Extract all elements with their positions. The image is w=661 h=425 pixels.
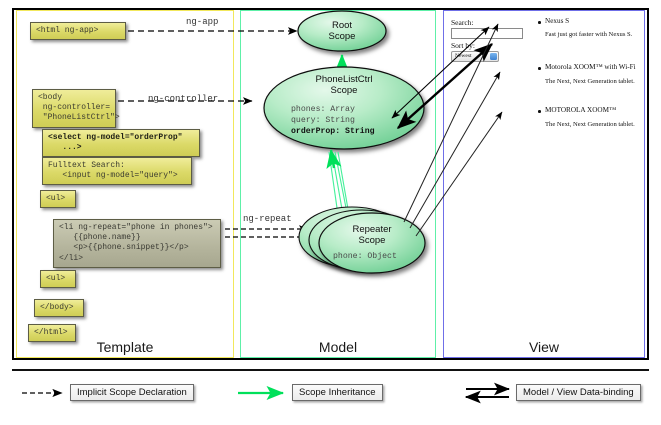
- code-search-input-tag: Fulltext Search: <input ng-model="query"…: [42, 157, 192, 185]
- chevron-updown-icon: [490, 53, 497, 60]
- legend-item-scope-inheritance: Scope Inheritance: [292, 384, 383, 401]
- diagram-root: Template <html ng-app> <body ng-controll…: [0, 0, 661, 425]
- code-ul-open-tag: <ul>: [40, 190, 76, 208]
- panel-model: Model: [240, 10, 436, 358]
- code-li-repeat-tag: <li ng-repeat="phone in phones"> {{phone…: [53, 219, 221, 268]
- list-bullet-icon: [538, 110, 541, 113]
- view-phone-snippet-1: The Next, Next Generation tablet.: [545, 78, 635, 85]
- list-bullet-icon: [538, 21, 541, 24]
- legend-item-model-view-data-binding: Model / View Data-binding: [516, 384, 641, 401]
- view-phone-name-0: Nexus S: [545, 17, 569, 25]
- view-content: Search: Sort by: Newest Nexus S Fast jus…: [449, 16, 641, 346]
- code-html-tag: <html ng-app>: [30, 22, 126, 40]
- legend: Implicit Scope Declaration Scope Inherit…: [0, 378, 661, 418]
- code-ul-close-tag: <ul>: [40, 270, 76, 288]
- view-phone-snippet-0: Fast just got faster with Nexus S.: [545, 31, 632, 38]
- code-select-tag: <select ng-model="orderProp" ...>: [42, 129, 200, 157]
- view-sort-select[interactable]: Newest: [451, 51, 499, 62]
- view-search-input[interactable]: [451, 28, 523, 39]
- code-body-close-tag: </body>: [34, 299, 84, 317]
- view-search-label: Search:: [451, 18, 474, 27]
- legend-divider: [12, 369, 649, 371]
- view-phone-name-1: Motorola XOOM™ with Wi-Fi: [545, 63, 636, 71]
- view-sort-select-value: Newest: [455, 53, 472, 59]
- view-phone-name-2: MOTOROLA XOOM™: [545, 106, 616, 114]
- view-phone-snippet-2: The Next, Next Generation tablet.: [545, 121, 635, 128]
- code-html-close-tag: </html>: [28, 324, 76, 342]
- panel-label-model: Model: [241, 339, 435, 355]
- edge-label-ng-controller: ng-controller: [148, 94, 218, 104]
- list-bullet-icon: [538, 67, 541, 70]
- view-sort-label: Sort by:: [451, 41, 475, 50]
- code-body-tag: <body ng-controller= "PhoneListCtrl">: [32, 89, 116, 128]
- legend-item-implicit-scope-declaration: Implicit Scope Declaration: [70, 384, 194, 401]
- edge-label-ng-repeat: ng-repeat: [243, 214, 292, 224]
- edge-label-ng-app: ng-app: [186, 17, 218, 27]
